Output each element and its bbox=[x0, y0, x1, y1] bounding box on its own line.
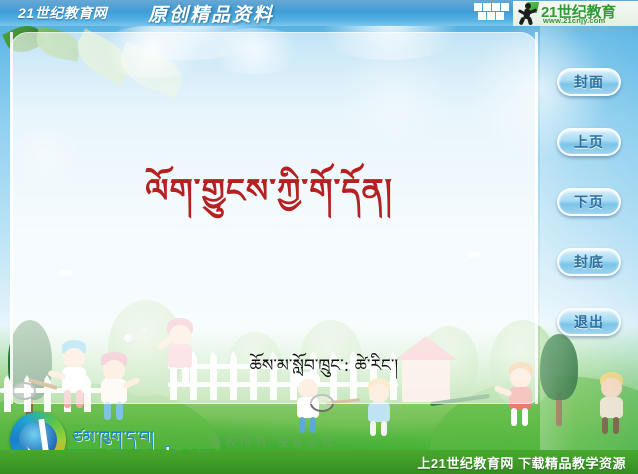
panel-right-edge bbox=[535, 32, 538, 404]
exit-button-label: 退出 bbox=[574, 315, 604, 329]
prev-page-button[interactable]: 上页 bbox=[557, 128, 621, 156]
running-person-icon bbox=[516, 2, 540, 25]
footer-promo-text: 上21世纪教育网 下载精品教学资源 bbox=[417, 453, 626, 472]
prev-page-button-label: 上页 bbox=[574, 135, 604, 149]
next-page-button-label: 下页 bbox=[574, 195, 604, 209]
checkerboard-icon bbox=[474, 3, 510, 24]
next-page-button[interactable]: 下页 bbox=[557, 188, 621, 216]
exit-button[interactable]: 退出 bbox=[557, 308, 621, 336]
child-leg bbox=[370, 421, 376, 436]
brand-slogan: 原创精品资料 bbox=[148, 0, 274, 26]
child-body bbox=[368, 402, 390, 422]
back-cover-button[interactable]: 封底 bbox=[557, 248, 621, 276]
panel-left-edge bbox=[10, 32, 13, 404]
child-leg bbox=[522, 408, 528, 426]
footer-bar: 上21世纪教育网 下载精品教学资源 bbox=[0, 450, 638, 474]
navigation-sidebar: 封面 上页 下页 封底 退出 bbox=[540, 26, 638, 474]
child-leg bbox=[310, 417, 316, 433]
brand-name: 21世纪教育网 bbox=[18, 3, 107, 23]
back-cover-button-label: 封底 bbox=[574, 255, 604, 269]
presentation-slide-window: ལོག་གྱུངས་ཀྱི་གོ་དོན། ཆོས་མ་སློབ་ཁྲུང་: … bbox=[0, 0, 638, 474]
cover-button[interactable]: 封面 bbox=[557, 68, 621, 96]
slide-content-panel bbox=[10, 32, 538, 404]
site-logo-url: www.21cnjy.com bbox=[543, 16, 605, 25]
cover-button-label: 封面 bbox=[574, 75, 604, 89]
child-leg bbox=[299, 417, 305, 433]
slide-title: ལོག་གྱུངས་ཀྱི་གོ་དོན། bbox=[0, 170, 538, 211]
child-leg bbox=[511, 408, 517, 426]
child-leg bbox=[381, 421, 387, 436]
site-logo[interactable]: 21世纪教育 www.21cnjy.com bbox=[513, 1, 638, 26]
slide-subtitle: ཆོས་མ་སློབ་ཁྲུང་: ཚེ་རིང་། bbox=[0, 355, 538, 377]
